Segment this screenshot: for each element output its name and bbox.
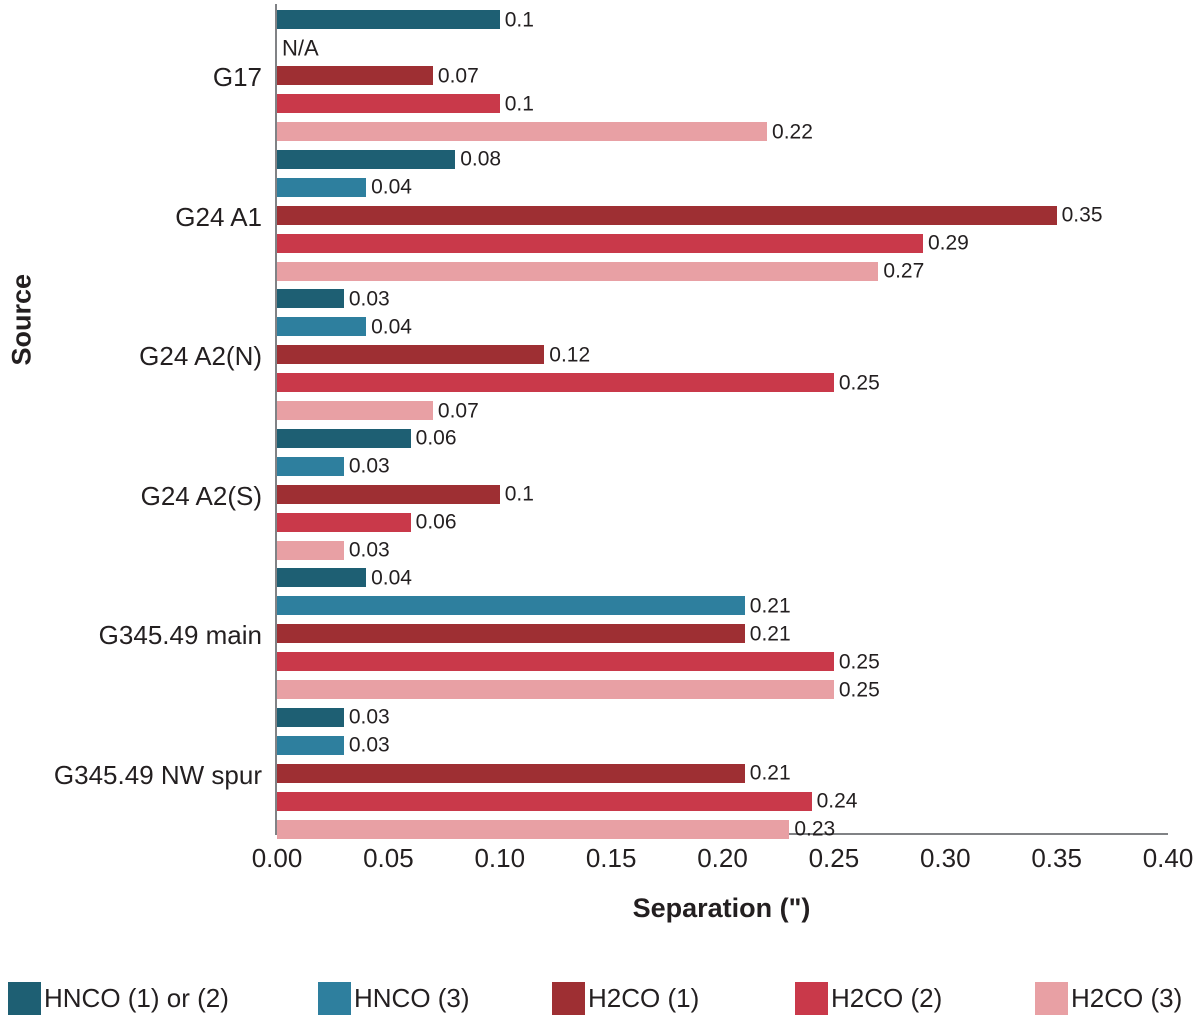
bar [277, 262, 878, 281]
bar-value-label: 0.03 [349, 288, 390, 309]
bar [277, 122, 767, 141]
bar-value-label: 0.1 [505, 484, 534, 505]
legend-swatch [8, 982, 41, 1015]
bar-row: 0.22 [277, 122, 1168, 141]
bar-group: 0.030.040.120.250.07 [277, 289, 1168, 429]
y-axis-tick-label: G24 A2(S) [0, 481, 262, 511]
bar-group: 0.040.210.210.250.25 [277, 568, 1168, 708]
bar-value-label: 0.04 [371, 177, 412, 198]
bar-value-label: 0.21 [750, 595, 791, 616]
bar-group: 0.060.030.10.060.03 [277, 429, 1168, 569]
bar-value-label: 0.06 [416, 512, 457, 533]
bar-row: 0.03 [277, 541, 1168, 560]
bar-row: 0.04 [277, 317, 1168, 336]
bar-row: 0.25 [277, 652, 1168, 671]
bar-group: 0.080.040.350.290.27 [277, 150, 1168, 290]
bar-value-na: N/A [282, 37, 319, 58]
bar [277, 345, 544, 364]
y-axis-tick-label: G24 A2(N) [0, 341, 262, 371]
bar [277, 708, 344, 727]
bar-value-label: 0.03 [349, 540, 390, 561]
x-axis-tick-labels: 0.000.050.100.150.200.250.300.350.40 [275, 843, 1168, 877]
bar [277, 541, 344, 560]
legend-item[interactable]: H2CO (1) [552, 978, 699, 1018]
bar [277, 736, 344, 755]
bar-row: 0.04 [277, 568, 1168, 587]
legend-swatch [795, 982, 828, 1015]
bar-row: 0.21 [277, 624, 1168, 643]
bar-value-label: 0.21 [750, 763, 791, 784]
bar [277, 94, 500, 113]
bar-row: 0.12 [277, 345, 1168, 364]
bar-group: 0.1N/A0.070.10.22 [277, 10, 1168, 150]
bar-value-label: 0.27 [883, 261, 924, 282]
x-axis-tick-label: 0.20 [663, 843, 783, 873]
bar [277, 429, 411, 448]
bar [277, 457, 344, 476]
y-axis-tick-label: G24 A1 [0, 202, 262, 232]
bar-value-label: 0.23 [794, 819, 835, 840]
plot-area: 0.1N/A0.070.10.220.080.040.350.290.270.0… [275, 4, 1168, 833]
bar [277, 150, 455, 169]
chart-legend: HNCO (1) or (2)HNCO (3)H2CO (1)H2CO (2)H… [0, 978, 1200, 1020]
legend-swatch [1035, 982, 1068, 1015]
x-axis-tick-label: 0.05 [328, 843, 448, 873]
bar [277, 652, 834, 671]
legend-label: H2CO (2) [831, 983, 942, 1013]
bar-value-label: 0.03 [349, 735, 390, 756]
bar [277, 792, 812, 811]
bar-row: N/A [277, 38, 1168, 57]
bar [277, 401, 433, 420]
bar-value-label: 0.03 [349, 707, 390, 728]
bar [277, 66, 433, 85]
bar-row: 0.1 [277, 94, 1168, 113]
bar-value-label: 0.08 [460, 149, 501, 170]
y-axis-tick-label: G345.49 main [0, 620, 262, 650]
bar-chart-figure: Source G17G24 A1G24 A2(N)G24 A2(S)G345.4… [0, 0, 1200, 1027]
legend-label: HNCO (3) [354, 983, 470, 1013]
legend-item[interactable]: HNCO (1) or (2) [8, 978, 229, 1018]
legend-label: HNCO (1) or (2) [44, 983, 229, 1013]
bar-row: 0.25 [277, 680, 1168, 699]
bar [277, 680, 834, 699]
bar-value-label: 0.07 [438, 65, 479, 86]
bar-value-label: 0.21 [750, 623, 791, 644]
legend-swatch [318, 982, 351, 1015]
bar-value-label: 0.25 [839, 372, 880, 393]
bar-row: 0.06 [277, 429, 1168, 448]
bar-value-label: 0.03 [349, 456, 390, 477]
bar-row: 0.03 [277, 708, 1168, 727]
bar-row: 0.21 [277, 764, 1168, 783]
bar-group: 0.030.030.210.240.23 [277, 708, 1168, 848]
x-axis-tick-label: 0.00 [217, 843, 337, 873]
bar-row: 0.03 [277, 457, 1168, 476]
bar [277, 206, 1057, 225]
bar-row: 0.27 [277, 262, 1168, 281]
x-axis-title: Separation (") [275, 893, 1168, 924]
bar-value-label: 0.06 [416, 428, 457, 449]
bar [277, 317, 366, 336]
x-axis-tick-label: 0.30 [885, 843, 1005, 873]
bar-row: 0.08 [277, 150, 1168, 169]
bar [277, 568, 366, 587]
y-axis-tick-label: G17 [0, 62, 262, 92]
x-axis-tick-label: 0.15 [551, 843, 671, 873]
bar [277, 289, 344, 308]
bar-row: 0.03 [277, 289, 1168, 308]
bar-value-label: 0.12 [549, 344, 590, 365]
bar-value-label: 0.22 [772, 121, 813, 142]
bar [277, 485, 500, 504]
bar-value-label: 0.04 [371, 567, 412, 588]
bar-value-label: 0.29 [928, 233, 969, 254]
bar-row: 0.35 [277, 206, 1168, 225]
bar [277, 234, 923, 253]
y-axis-tick-labels: G17G24 A1G24 A2(N)G24 A2(S)G345.49 mainG… [0, 4, 262, 833]
bar [277, 764, 745, 783]
legend-label: H2CO (1) [588, 983, 699, 1013]
bar-row: 0.1 [277, 485, 1168, 504]
bar [277, 596, 745, 615]
bar-row: 0.03 [277, 736, 1168, 755]
bar-value-label: 0.07 [438, 400, 479, 421]
x-axis-tick-label: 0.10 [440, 843, 560, 873]
x-axis-tick-label: 0.25 [774, 843, 894, 873]
bar-value-label: 0.04 [371, 316, 412, 337]
bar-row: 0.25 [277, 373, 1168, 392]
x-axis-tick-label: 0.35 [997, 843, 1117, 873]
bar-row: 0.06 [277, 513, 1168, 532]
bar-row: 0.23 [277, 820, 1168, 839]
bar-value-label: 0.24 [817, 791, 858, 812]
bar-value-label: 0.1 [505, 93, 534, 114]
x-axis-tick-label: 0.40 [1108, 843, 1200, 873]
bar-row: 0.04 [277, 178, 1168, 197]
bar-value-label: 0.1 [505, 9, 534, 30]
bar-value-label: 0.25 [839, 679, 880, 700]
bar-value-label: 0.25 [839, 651, 880, 672]
bar [277, 373, 834, 392]
bar-row: 0.1 [277, 10, 1168, 29]
bar-row: 0.24 [277, 792, 1168, 811]
bar-value-label: 0.35 [1062, 205, 1103, 226]
legend-item[interactable]: HNCO (3) [318, 978, 470, 1018]
bar-row: 0.07 [277, 66, 1168, 85]
bar [277, 624, 745, 643]
legend-item[interactable]: H2CO (3) [1035, 978, 1182, 1018]
legend-item[interactable]: H2CO (2) [795, 978, 942, 1018]
bar [277, 178, 366, 197]
bar-row: 0.29 [277, 234, 1168, 253]
bar [277, 10, 500, 29]
bar [277, 820, 789, 839]
bar [277, 513, 411, 532]
bar-row: 0.21 [277, 596, 1168, 615]
y-axis-tick-label: G345.49 NW spur [0, 760, 262, 790]
legend-label: H2CO (3) [1071, 983, 1182, 1013]
bar-row: 0.07 [277, 401, 1168, 420]
legend-swatch [552, 982, 585, 1015]
